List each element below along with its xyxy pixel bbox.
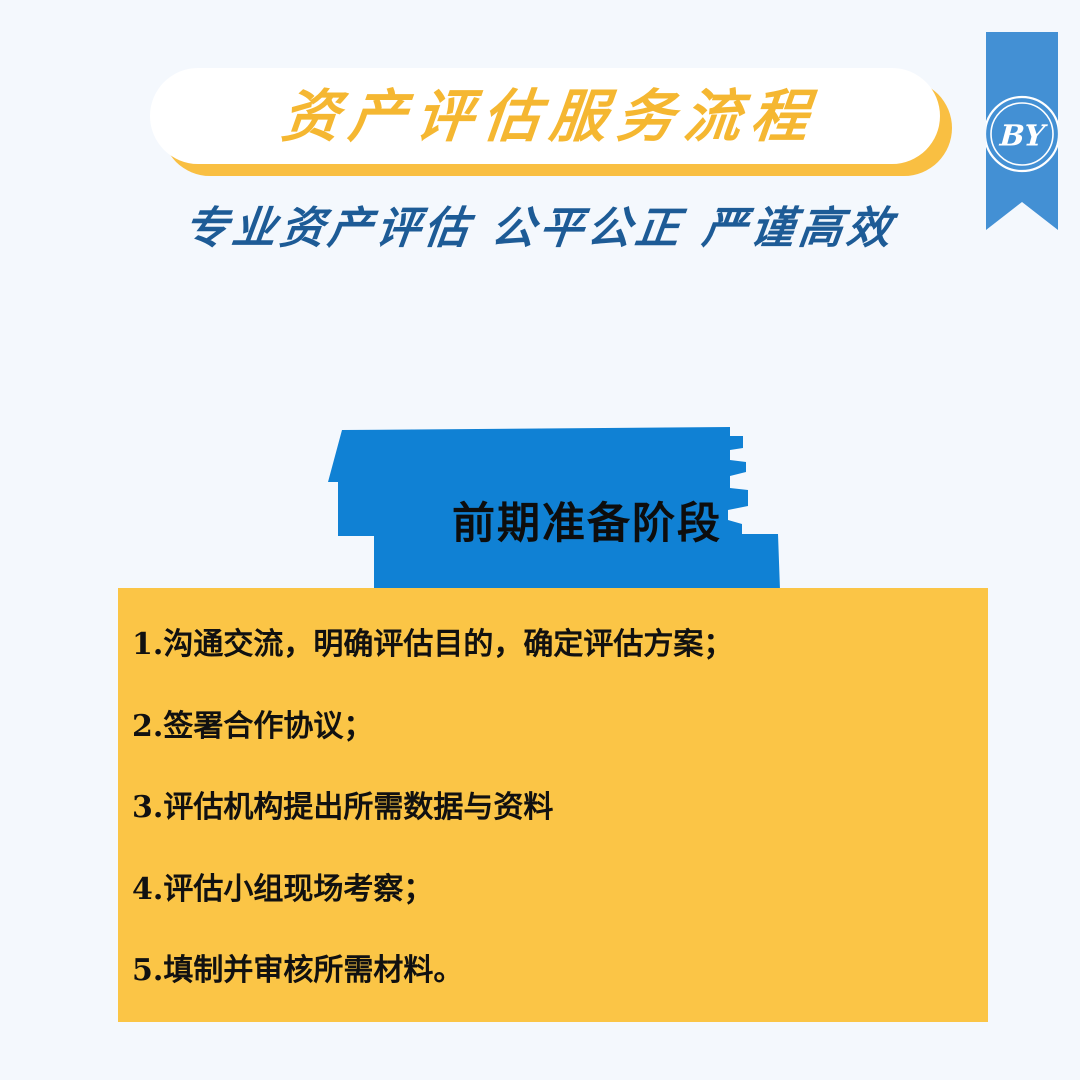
title-plate: 资产评估服务流程 <box>150 68 940 164</box>
list-item: 2.签署合作协议； <box>132 708 958 746</box>
header-area: 资产评估服务流程 专业资产评估 公平公正 严谨高效 BY <box>0 0 1080 280</box>
content-card: 1.沟通交流，明确评估目的，确定评估方案； 2.签署合作协议； 3.评估机构提出… <box>118 588 988 1022</box>
stage-banner: 前期准备阶段 <box>310 420 820 600</box>
page-title: 资产评估服务流程 <box>269 88 821 145</box>
list-item: 3.评估机构提出所需数据与资料 <box>132 789 958 827</box>
torn-banner-shape <box>310 420 820 600</box>
list-item: 4.评估小组现场考察； <box>132 871 958 909</box>
list-item: 1.沟通交流，明确评估目的，确定评估方案； <box>132 626 958 664</box>
list-item: 5.填制并审核所需材料。 <box>132 952 958 990</box>
step-list: 1.沟通交流，明确评估目的，确定评估方案； 2.签署合作协议； 3.评估机构提出… <box>132 626 958 990</box>
title-plate-face: 资产评估服务流程 <box>150 68 940 164</box>
ribbon-badge: BY <box>986 32 1058 230</box>
page-subtitle: 专业资产评估 公平公正 严谨高效 <box>0 192 1080 256</box>
poster-root: 资产评估服务流程 专业资产评估 公平公正 严谨高效 BY 前期准备阶段 <box>0 0 1080 1080</box>
ribbon-icon <box>986 32 1058 230</box>
